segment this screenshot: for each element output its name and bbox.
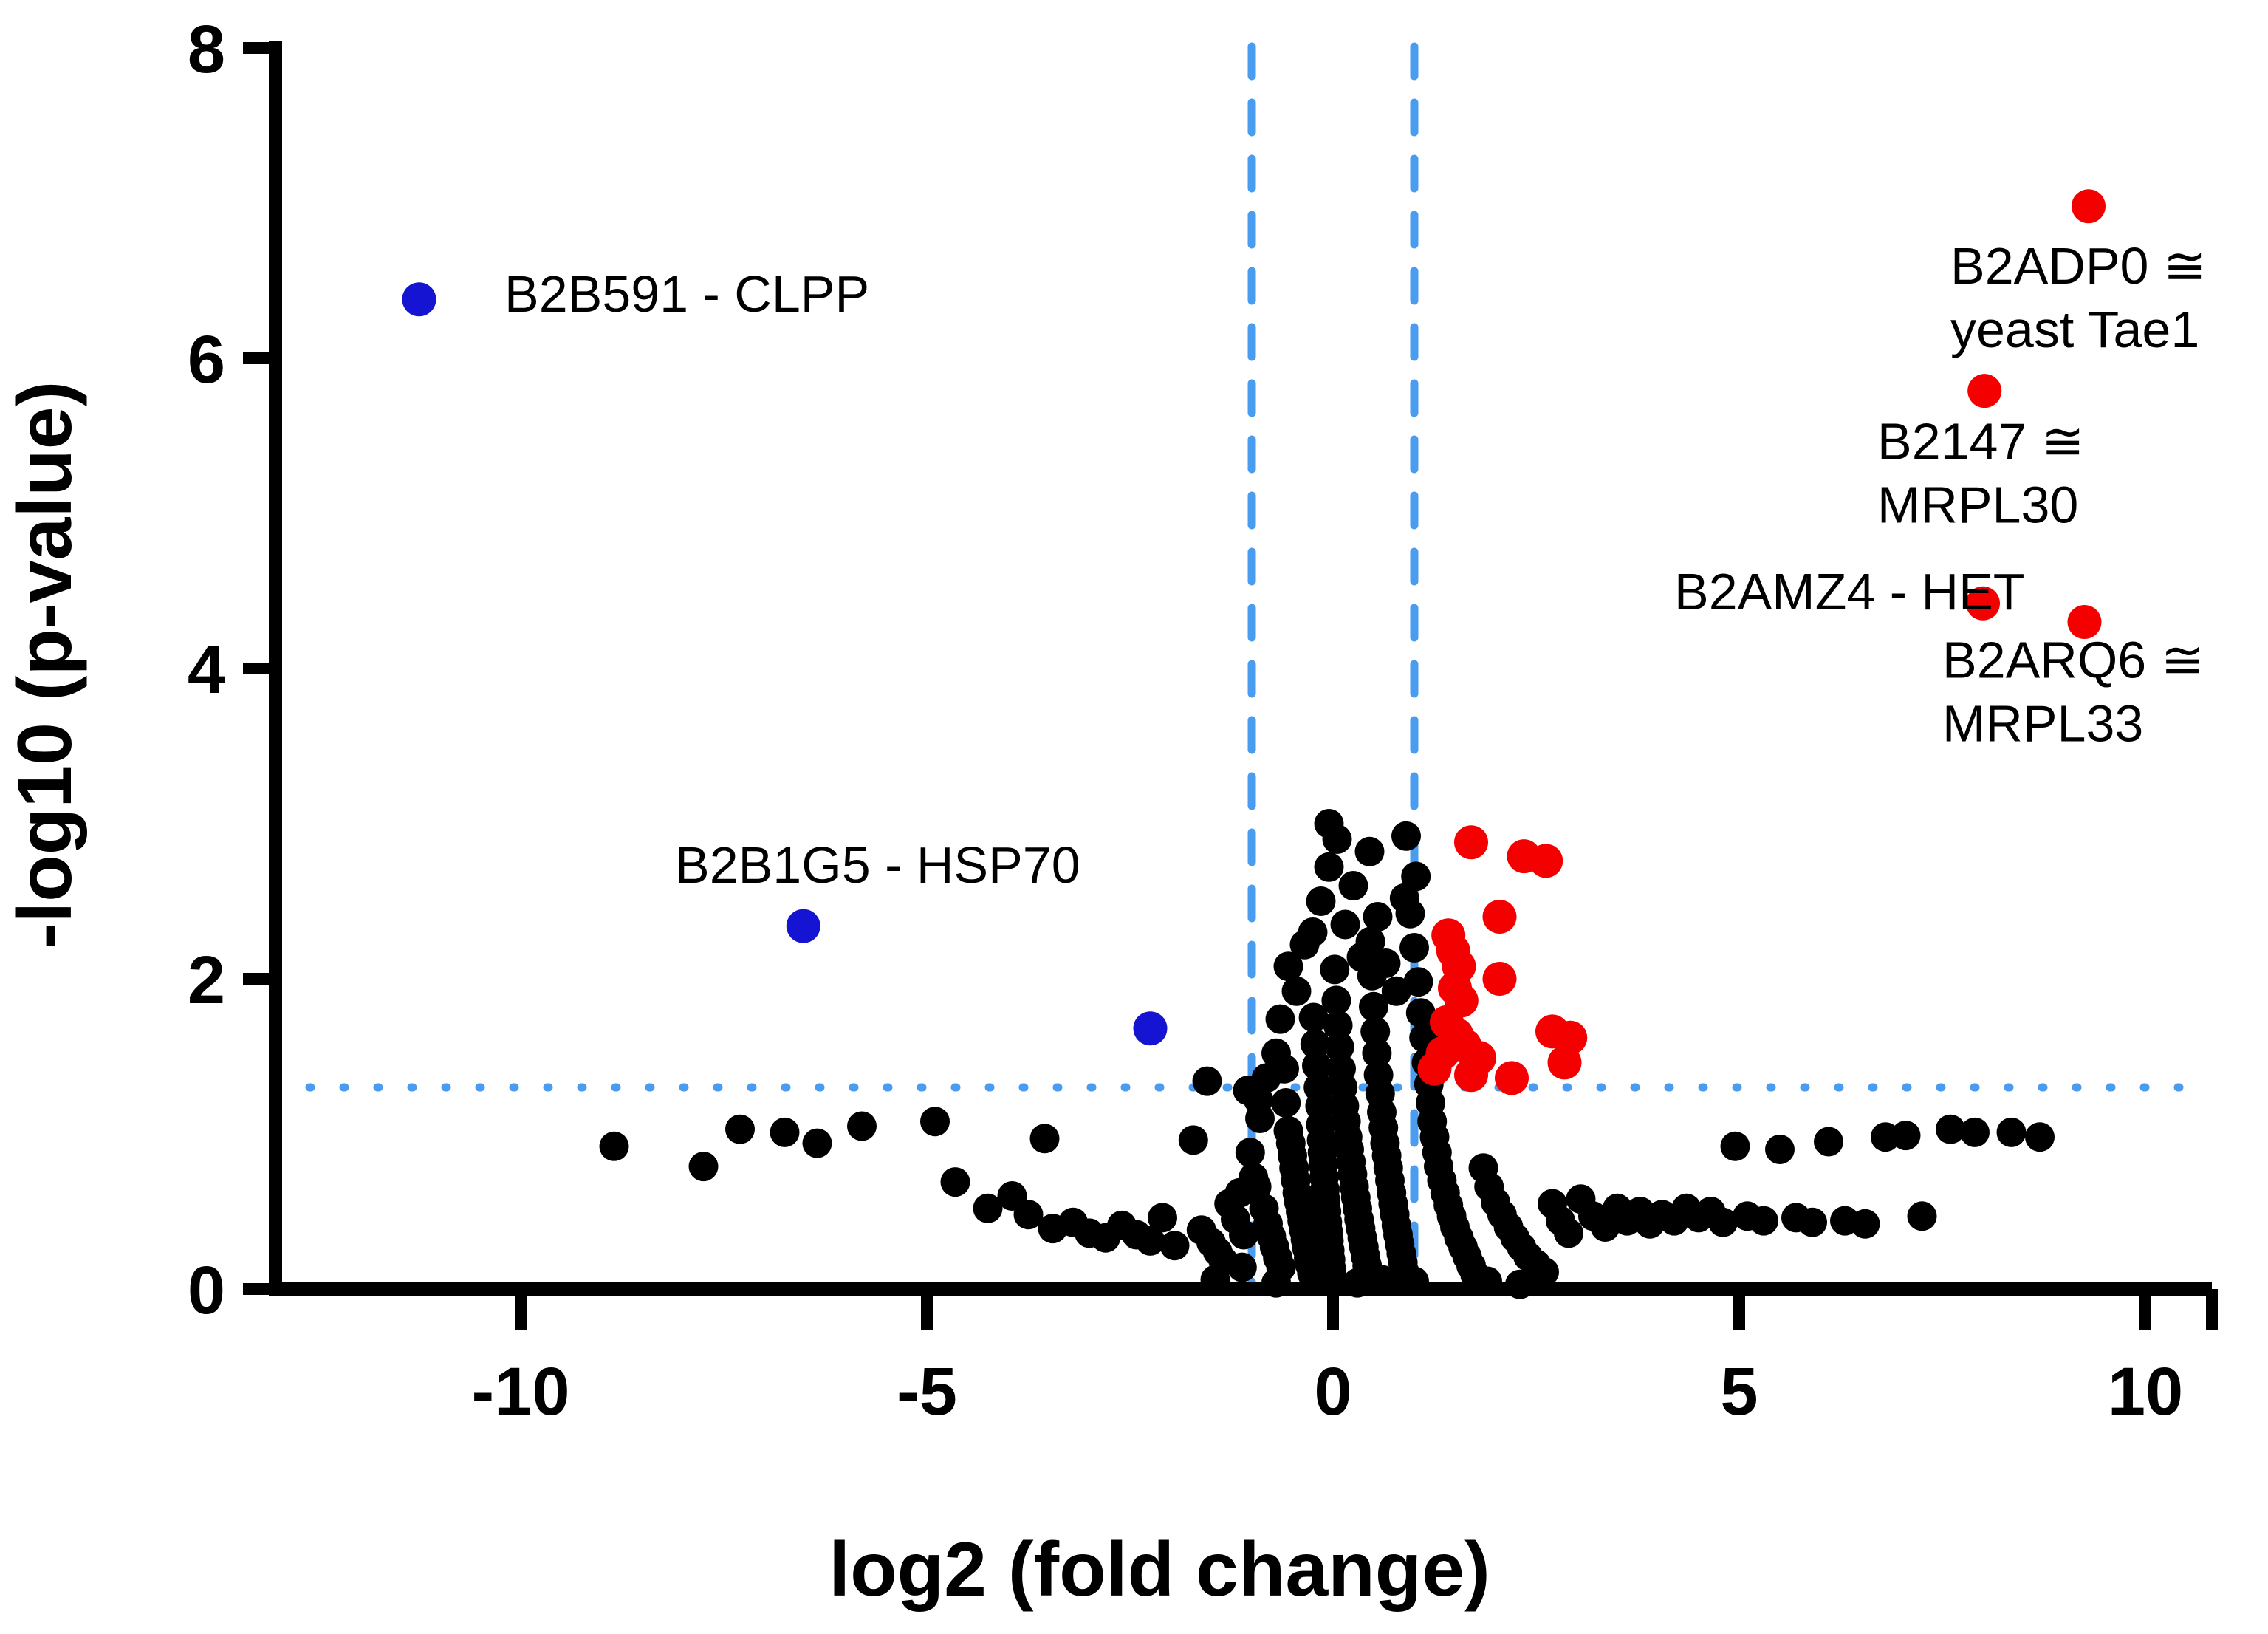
data-point bbox=[1290, 930, 1320, 960]
data-point bbox=[1765, 1135, 1795, 1164]
annotation-line: B2AMZ4 - HET bbox=[1674, 563, 2025, 621]
data-point bbox=[1331, 910, 1360, 940]
data-point bbox=[1282, 977, 1312, 1006]
data-point bbox=[1529, 844, 1563, 878]
data-point bbox=[1721, 1132, 1750, 1161]
volcano-plot-figure: B2B591 - CLPPB2B1G5 - HSP70B2ADP0 ≅yeast… bbox=[0, 0, 2268, 1634]
data-point bbox=[1179, 1125, 1208, 1155]
data-point bbox=[2072, 189, 2106, 223]
data-point bbox=[1339, 871, 1368, 900]
annotation-line: B2147 ≅ bbox=[1877, 413, 2085, 471]
x-tick-label: 5 bbox=[1720, 1354, 1758, 1429]
data-point bbox=[941, 1167, 970, 1197]
data-point bbox=[1236, 1138, 1265, 1167]
annotation-line: B2B591 - CLPP bbox=[504, 265, 869, 323]
data-point bbox=[1798, 1208, 1827, 1237]
annotation-line: B2B1G5 - HSP70 bbox=[675, 836, 1080, 894]
x-tick-label: -10 bbox=[472, 1354, 570, 1429]
data-point bbox=[1390, 883, 1419, 913]
data-point bbox=[1997, 1118, 2027, 1147]
annotation-line: B2ADP0 ≅ bbox=[1950, 237, 2207, 295]
data-point bbox=[1967, 374, 2001, 408]
data-point bbox=[725, 1115, 755, 1144]
data-point bbox=[1960, 1118, 1990, 1147]
figure-background bbox=[0, 0, 2268, 1634]
data-point bbox=[1227, 1253, 1257, 1282]
annotation-line: B2ARQ6 ≅ bbox=[1942, 632, 2204, 689]
data-point bbox=[2025, 1122, 2055, 1152]
data-point bbox=[689, 1152, 719, 1181]
data-point bbox=[402, 282, 436, 316]
data-point bbox=[1399, 933, 1429, 963]
data-point bbox=[1418, 1052, 1452, 1086]
data-point bbox=[1315, 809, 1344, 838]
point-annotation-label: B2B1G5 - HSP70 bbox=[675, 836, 1080, 894]
x-axis-title: log2 (fold change) bbox=[829, 1527, 1490, 1613]
data-point bbox=[1193, 1067, 1222, 1096]
data-point bbox=[1306, 886, 1336, 916]
data-point bbox=[1749, 1206, 1778, 1236]
y-tick-label: 4 bbox=[188, 632, 225, 708]
x-tick-label: 10 bbox=[2108, 1354, 2183, 1429]
data-point bbox=[1315, 852, 1344, 882]
y-tick-label: 2 bbox=[188, 943, 225, 1018]
data-point bbox=[1548, 1045, 1582, 1079]
data-point bbox=[1891, 1121, 1921, 1150]
data-point bbox=[1371, 948, 1401, 978]
point-annotation-label: B2B591 - CLPP bbox=[504, 265, 869, 323]
data-point bbox=[1160, 1231, 1190, 1260]
x-tick-label: 0 bbox=[1314, 1354, 1351, 1429]
data-point bbox=[1454, 825, 1488, 859]
data-point bbox=[1554, 1218, 1583, 1248]
data-point bbox=[1382, 977, 1411, 1006]
y-tick-label: 8 bbox=[188, 12, 225, 87]
data-point bbox=[1148, 1203, 1177, 1232]
y-axis-title: -log10 (p-value) bbox=[2, 381, 88, 949]
data-point bbox=[1814, 1127, 1843, 1157]
data-point bbox=[1851, 1209, 1880, 1239]
annotation-line: MRPL30 bbox=[1877, 476, 2078, 534]
data-point bbox=[1483, 900, 1517, 934]
annotation-line: yeast Tae1 bbox=[1950, 301, 2199, 358]
data-point bbox=[600, 1132, 629, 1161]
data-point bbox=[1391, 821, 1421, 851]
point-annotation-label: B2AMZ4 - HET bbox=[1674, 563, 2025, 621]
data-point bbox=[1483, 962, 1517, 996]
data-point bbox=[1244, 1085, 1273, 1115]
data-point bbox=[1271, 1088, 1301, 1118]
volcano-plot-svg: B2B591 - CLPPB2B1G5 - HSP70B2ADP0 ≅yeast… bbox=[0, 0, 2268, 1634]
data-point bbox=[1355, 837, 1385, 866]
data-point bbox=[1134, 1011, 1168, 1045]
data-point bbox=[787, 909, 820, 943]
data-point bbox=[1495, 1061, 1529, 1095]
annotation-line: MRPL33 bbox=[1942, 695, 2143, 753]
data-point bbox=[803, 1129, 832, 1158]
data-point bbox=[1454, 1058, 1488, 1092]
data-point bbox=[1908, 1201, 1937, 1231]
data-point bbox=[1363, 902, 1393, 931]
data-point bbox=[1030, 1124, 1060, 1153]
data-point bbox=[1266, 1005, 1295, 1034]
y-tick-label: 0 bbox=[188, 1253, 225, 1328]
data-point bbox=[847, 1112, 877, 1141]
y-tick-label: 6 bbox=[188, 322, 225, 397]
data-point bbox=[920, 1107, 950, 1136]
data-point bbox=[770, 1118, 800, 1147]
x-tick-label: -5 bbox=[897, 1354, 957, 1429]
data-point bbox=[1320, 954, 1349, 984]
